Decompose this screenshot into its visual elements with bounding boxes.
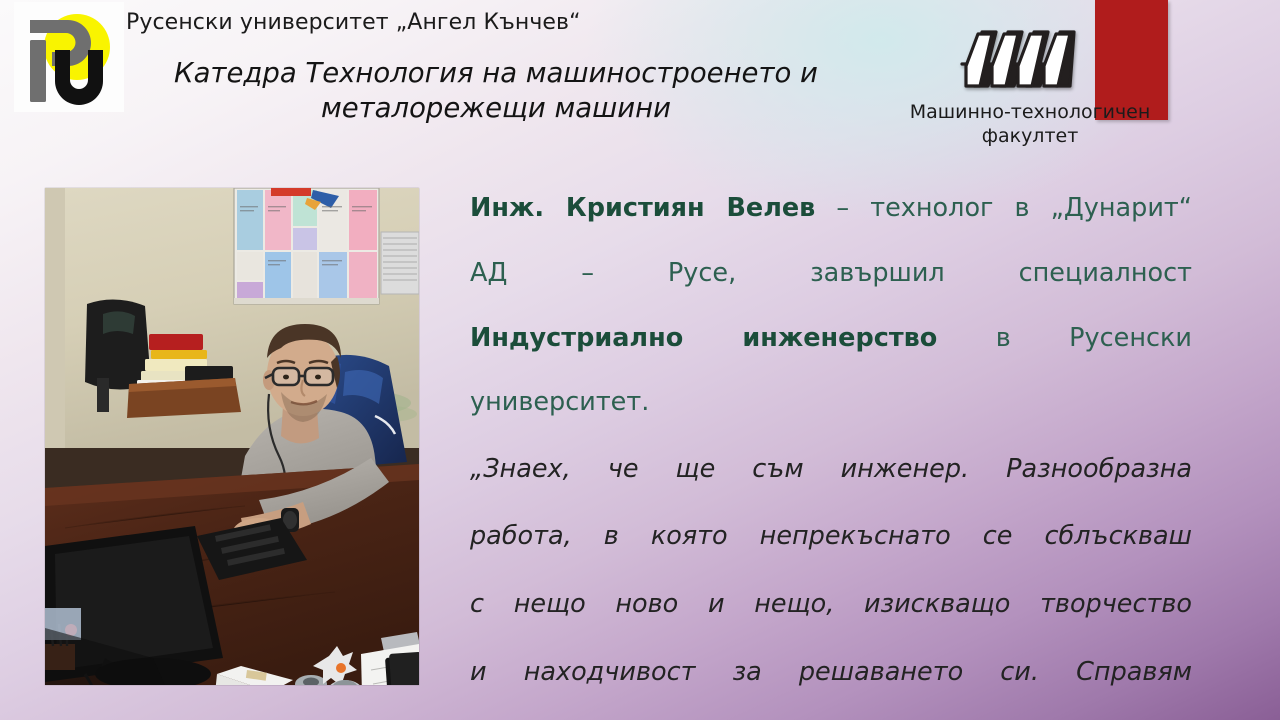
intro-paragraph: Инж. Кристиян Велев – технолог в „Дунари…	[470, 192, 1192, 419]
specialty-name: Индустриално инженерство	[470, 323, 937, 353]
intro-line-4: университет.	[470, 386, 1192, 418]
quote-line-1: „Знаех, че ще съм инженер. Разнообразна	[470, 453, 1192, 521]
coil-icon	[952, 24, 1092, 94]
person-name: Инж. Кристиян Велев	[470, 193, 815, 223]
department-title: Катедра Технология на машиностроенето и …	[126, 56, 866, 126]
university-title: Русенски университет „Ангел Кънчев“	[126, 10, 581, 35]
presentation-slide: Русенски университет „Ангел Кънчев“ Кате…	[0, 0, 1280, 720]
ru-university-logo	[14, 2, 124, 112]
person-photo: 3	[45, 188, 419, 685]
person-photo-graphic: 3	[45, 188, 419, 685]
quote-line-4: и находчивост за решаването си. Справям	[470, 656, 1192, 720]
intro-line-2: АД – Русе, завършил специалност	[470, 257, 1192, 322]
quote-line-2: работа, в която непрекъснато се сблъсква…	[470, 520, 1192, 588]
slide-header: Русенски университет „Ангел Кънчев“ Кате…	[0, 0, 1280, 172]
intro-text-2: в Русенски	[937, 323, 1192, 353]
quote-paragraph: „Знаех, че ще съм инженер. Разнообразна …	[470, 453, 1192, 720]
quote-line-3: с нещо ново и нещо, изискващо творчество	[470, 588, 1192, 656]
content-column: Инж. Кристиян Велев – технолог в „Дунари…	[470, 192, 1192, 720]
ru-logo-graphic	[14, 2, 124, 112]
intro-text-1: – технолог в „Дунарит“	[815, 193, 1192, 223]
faculty-coil-emblem	[952, 24, 1092, 94]
faculty-caption: Машинно-технологичен факултет	[880, 100, 1180, 149]
